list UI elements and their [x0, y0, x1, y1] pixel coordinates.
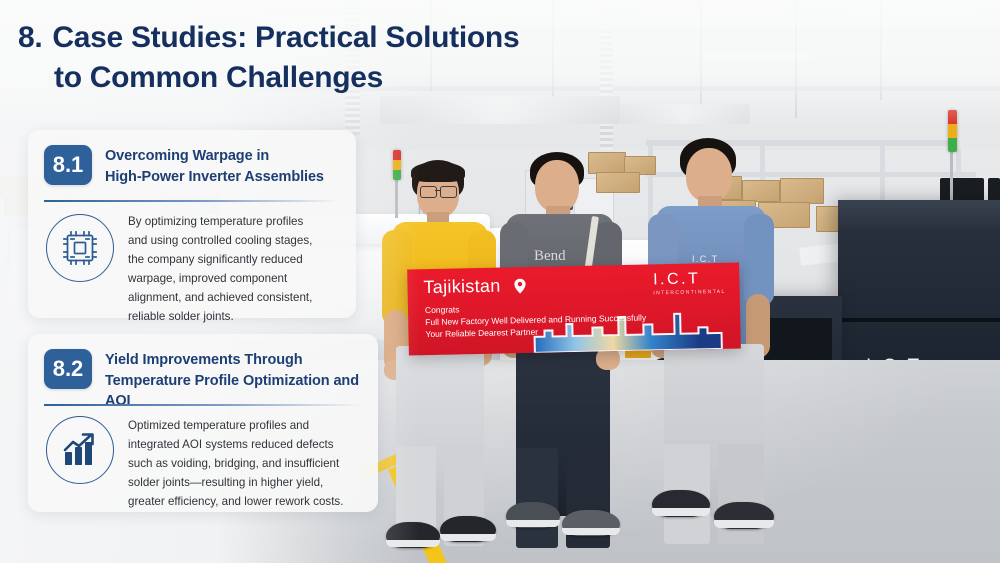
- location-pin-icon: [513, 278, 526, 294]
- card-title-8-1: Overcoming Warpage in High-Power Inverte…: [105, 145, 324, 187]
- slide-root: I.C.T I.C.T: [0, 0, 1000, 563]
- banner-country: Tajikistan: [423, 276, 500, 299]
- card-title-8-2: Yield Improvements Through Temperature P…: [105, 349, 366, 412]
- body-line: integrated AOI systems reduced defects: [128, 435, 374, 454]
- oven-seam: [838, 318, 1000, 322]
- leg-right: [718, 444, 764, 544]
- shoe-sole-right: [714, 520, 774, 528]
- banner-logo-ict: I.C.T INTERCONTINENTAL: [653, 270, 726, 297]
- banner-line3: Your Reliable Dearest Partner: [425, 327, 538, 339]
- card-body-8-1: By optimizing temperature profiles and u…: [128, 212, 350, 326]
- page-title: 8.Case Studies: Practical Solutions to C…: [18, 18, 658, 98]
- stack-light-green: [948, 138, 957, 152]
- title-number: 8.: [18, 21, 42, 54]
- body-line: such as voiding, bridging, and insuffici…: [128, 454, 374, 473]
- body-line: solder joints—resulting in higher yield,: [128, 473, 374, 492]
- microchip-icon: [46, 214, 114, 282]
- head: [535, 160, 579, 212]
- shoe-sole-left: [506, 520, 560, 527]
- glasses-right-lens: [440, 186, 457, 198]
- banner-logo-subtext: INTERCONTINENTAL: [653, 289, 725, 297]
- badge-8-2: 8.2: [44, 349, 92, 389]
- body-line: the company significantly reduced: [128, 250, 350, 269]
- arm-right: [744, 214, 774, 306]
- glasses-bridge: [435, 190, 440, 191]
- congratulations-banner: Tajikistan Congrats Full New Factory Wel…: [407, 263, 741, 356]
- card-divider: [44, 404, 362, 406]
- body-line: warpage, improved component: [128, 269, 350, 288]
- body-line: reliable solder joints.: [128, 307, 350, 326]
- shoe-sole-right: [440, 534, 496, 541]
- case-study-card-8-2[interactable]: 8.2 Yield Improvements Through Temperatu…: [28, 334, 378, 512]
- head: [686, 148, 732, 202]
- leg-left: [516, 448, 558, 548]
- card-divider: [44, 200, 340, 202]
- card-title-line1: Yield Improvements Through: [105, 352, 302, 368]
- card-header: 8.2 Yield Improvements Through Temperatu…: [44, 349, 366, 412]
- shoe-sole-right: [562, 528, 620, 535]
- card-header: 8.1 Overcoming Warpage in High-Power Inv…: [44, 145, 344, 187]
- glasses-left-lens: [420, 186, 437, 198]
- body-line: alignment, and achieved consistent,: [128, 288, 350, 307]
- banner-line1: Congrats: [425, 304, 460, 315]
- card-title-line2: High-Power Inverter Assemblies: [105, 169, 324, 185]
- body-line: By optimizing temperature profiles: [128, 212, 350, 231]
- body-line: greater efficiency, and lower rework cos…: [128, 492, 374, 511]
- stack-light-amber: [948, 124, 957, 138]
- oven-top: [838, 200, 1000, 236]
- case-study-card-8-1[interactable]: 8.1 Overcoming Warpage in High-Power Inv…: [28, 130, 356, 318]
- badge-8-1: 8.1: [44, 145, 92, 185]
- shoe-sole-left: [652, 508, 710, 516]
- title-line-1: Case Studies: Practical Solutions: [52, 21, 519, 54]
- card-title-line1: Overcoming Warpage in: [105, 148, 269, 164]
- body-line: and using controlled cooling stages,: [128, 231, 350, 250]
- title-line-2: to Common Challenges: [54, 61, 383, 94]
- card-body-8-2: Optimized temperature profiles and integ…: [128, 416, 374, 511]
- banner-logo-text: I.C.T: [653, 270, 701, 288]
- tshirt-text-line1: Bend: [534, 248, 566, 265]
- growth-chart-icon-glyph: [61, 432, 99, 468]
- growth-chart-icon: [46, 416, 114, 484]
- microchip-icon-glyph: [61, 229, 99, 267]
- body-line: Optimized temperature profiles and: [128, 416, 374, 435]
